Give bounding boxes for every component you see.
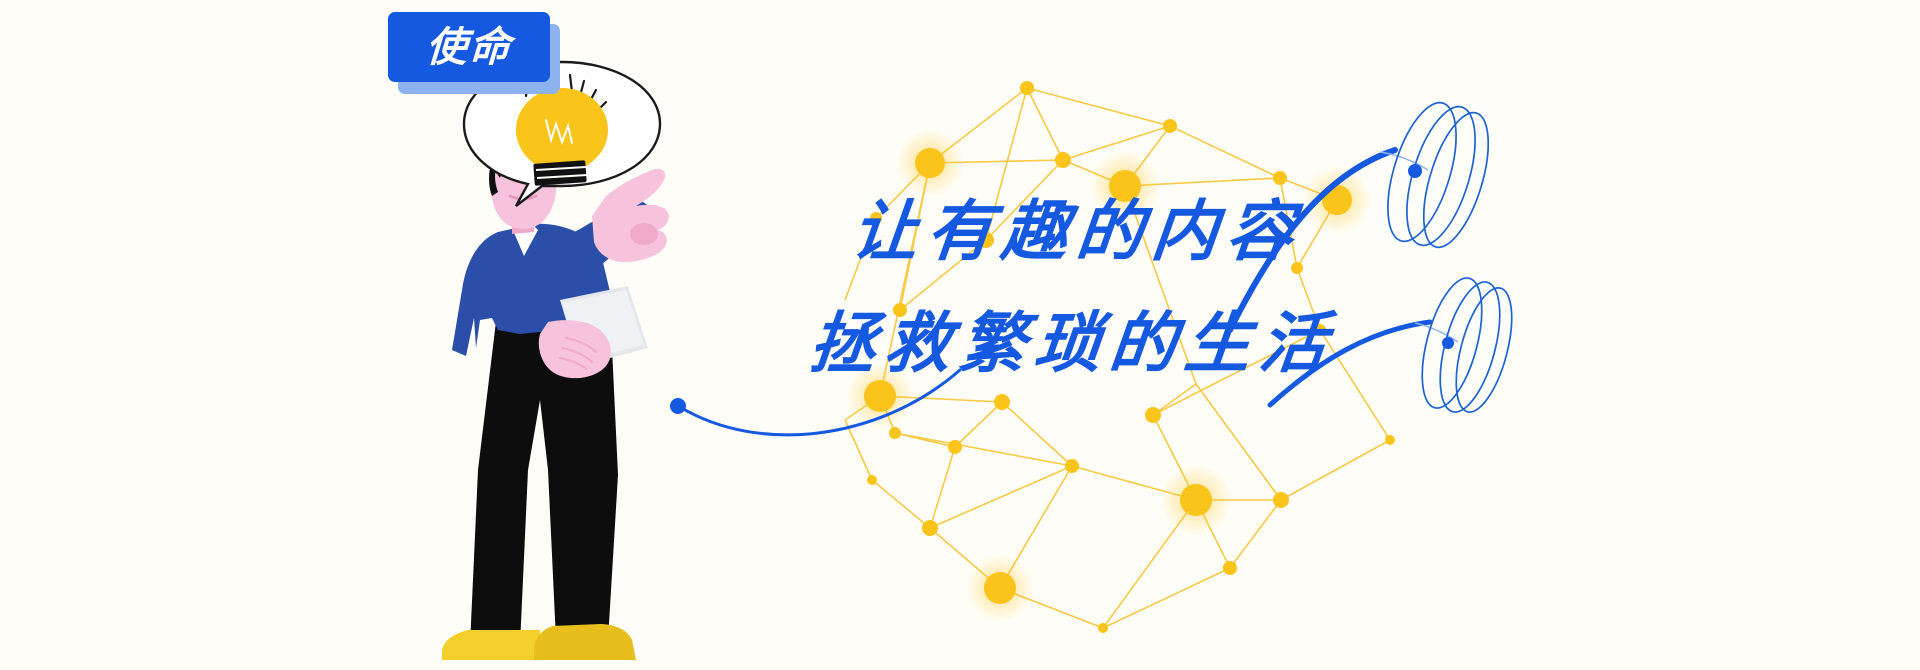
badge-layer: 使命 [0, 0, 1920, 670]
mission-badge: 使命 [388, 12, 560, 94]
mission-badge-face: 使命 [388, 12, 550, 82]
mission-badge-label: 使命 [425, 27, 513, 68]
mission-banner: 让有趣的内容 拯救繁琐的生活 使命 [0, 0, 1920, 670]
